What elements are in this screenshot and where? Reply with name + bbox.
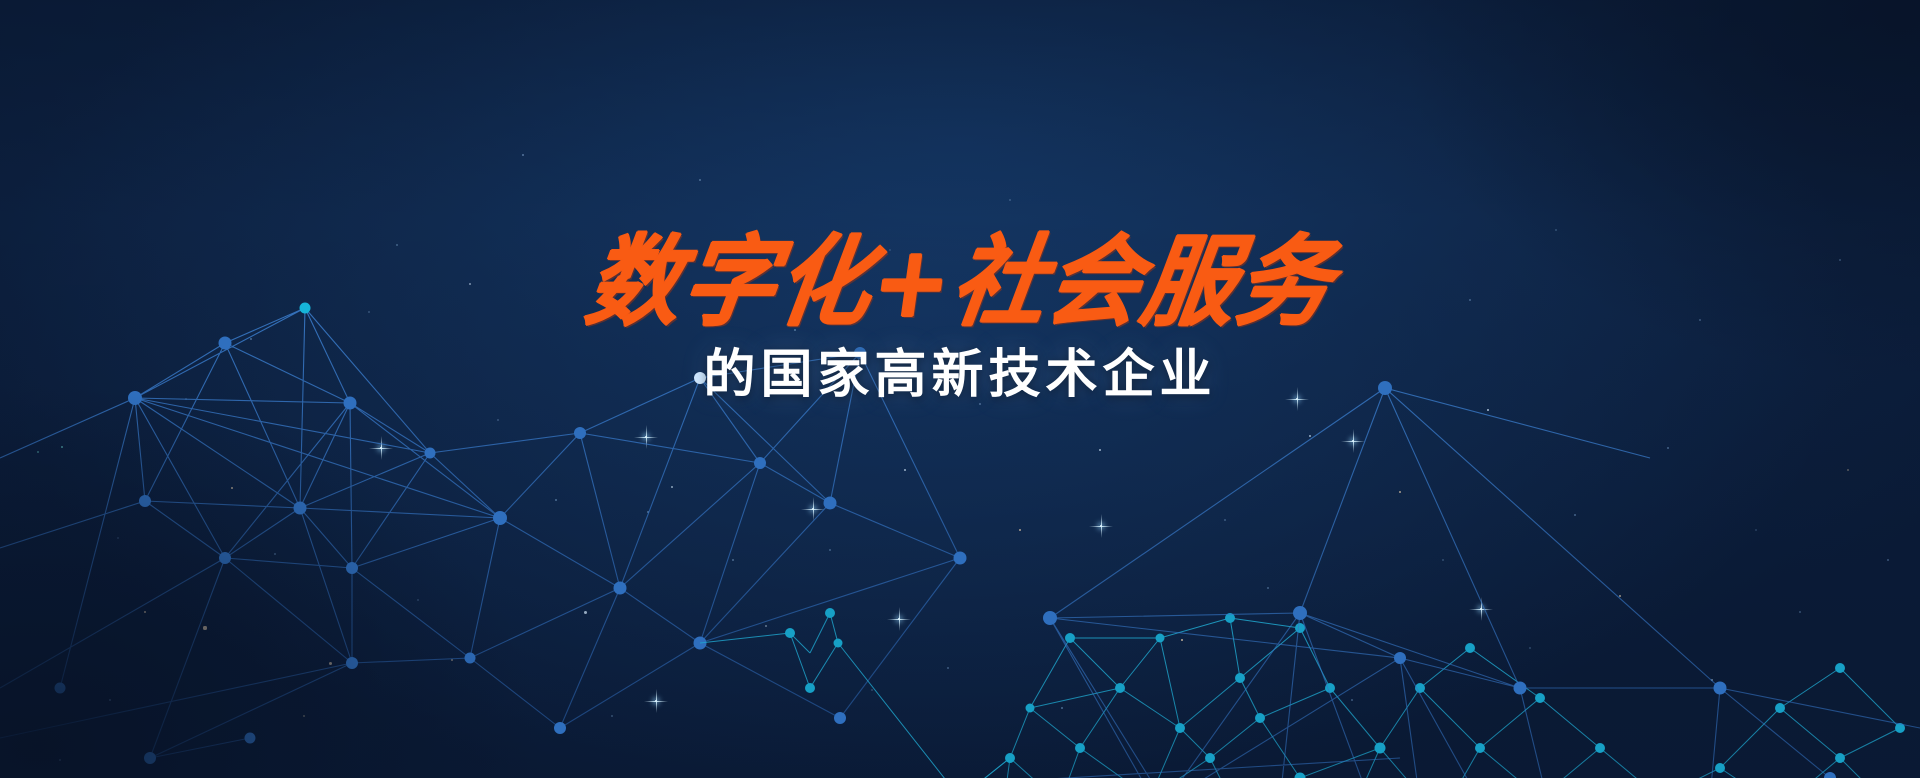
background-corner-shading (0, 0, 1920, 778)
hero-banner: 数字化+社会服务 的国家高新技术企业 (0, 0, 1920, 778)
